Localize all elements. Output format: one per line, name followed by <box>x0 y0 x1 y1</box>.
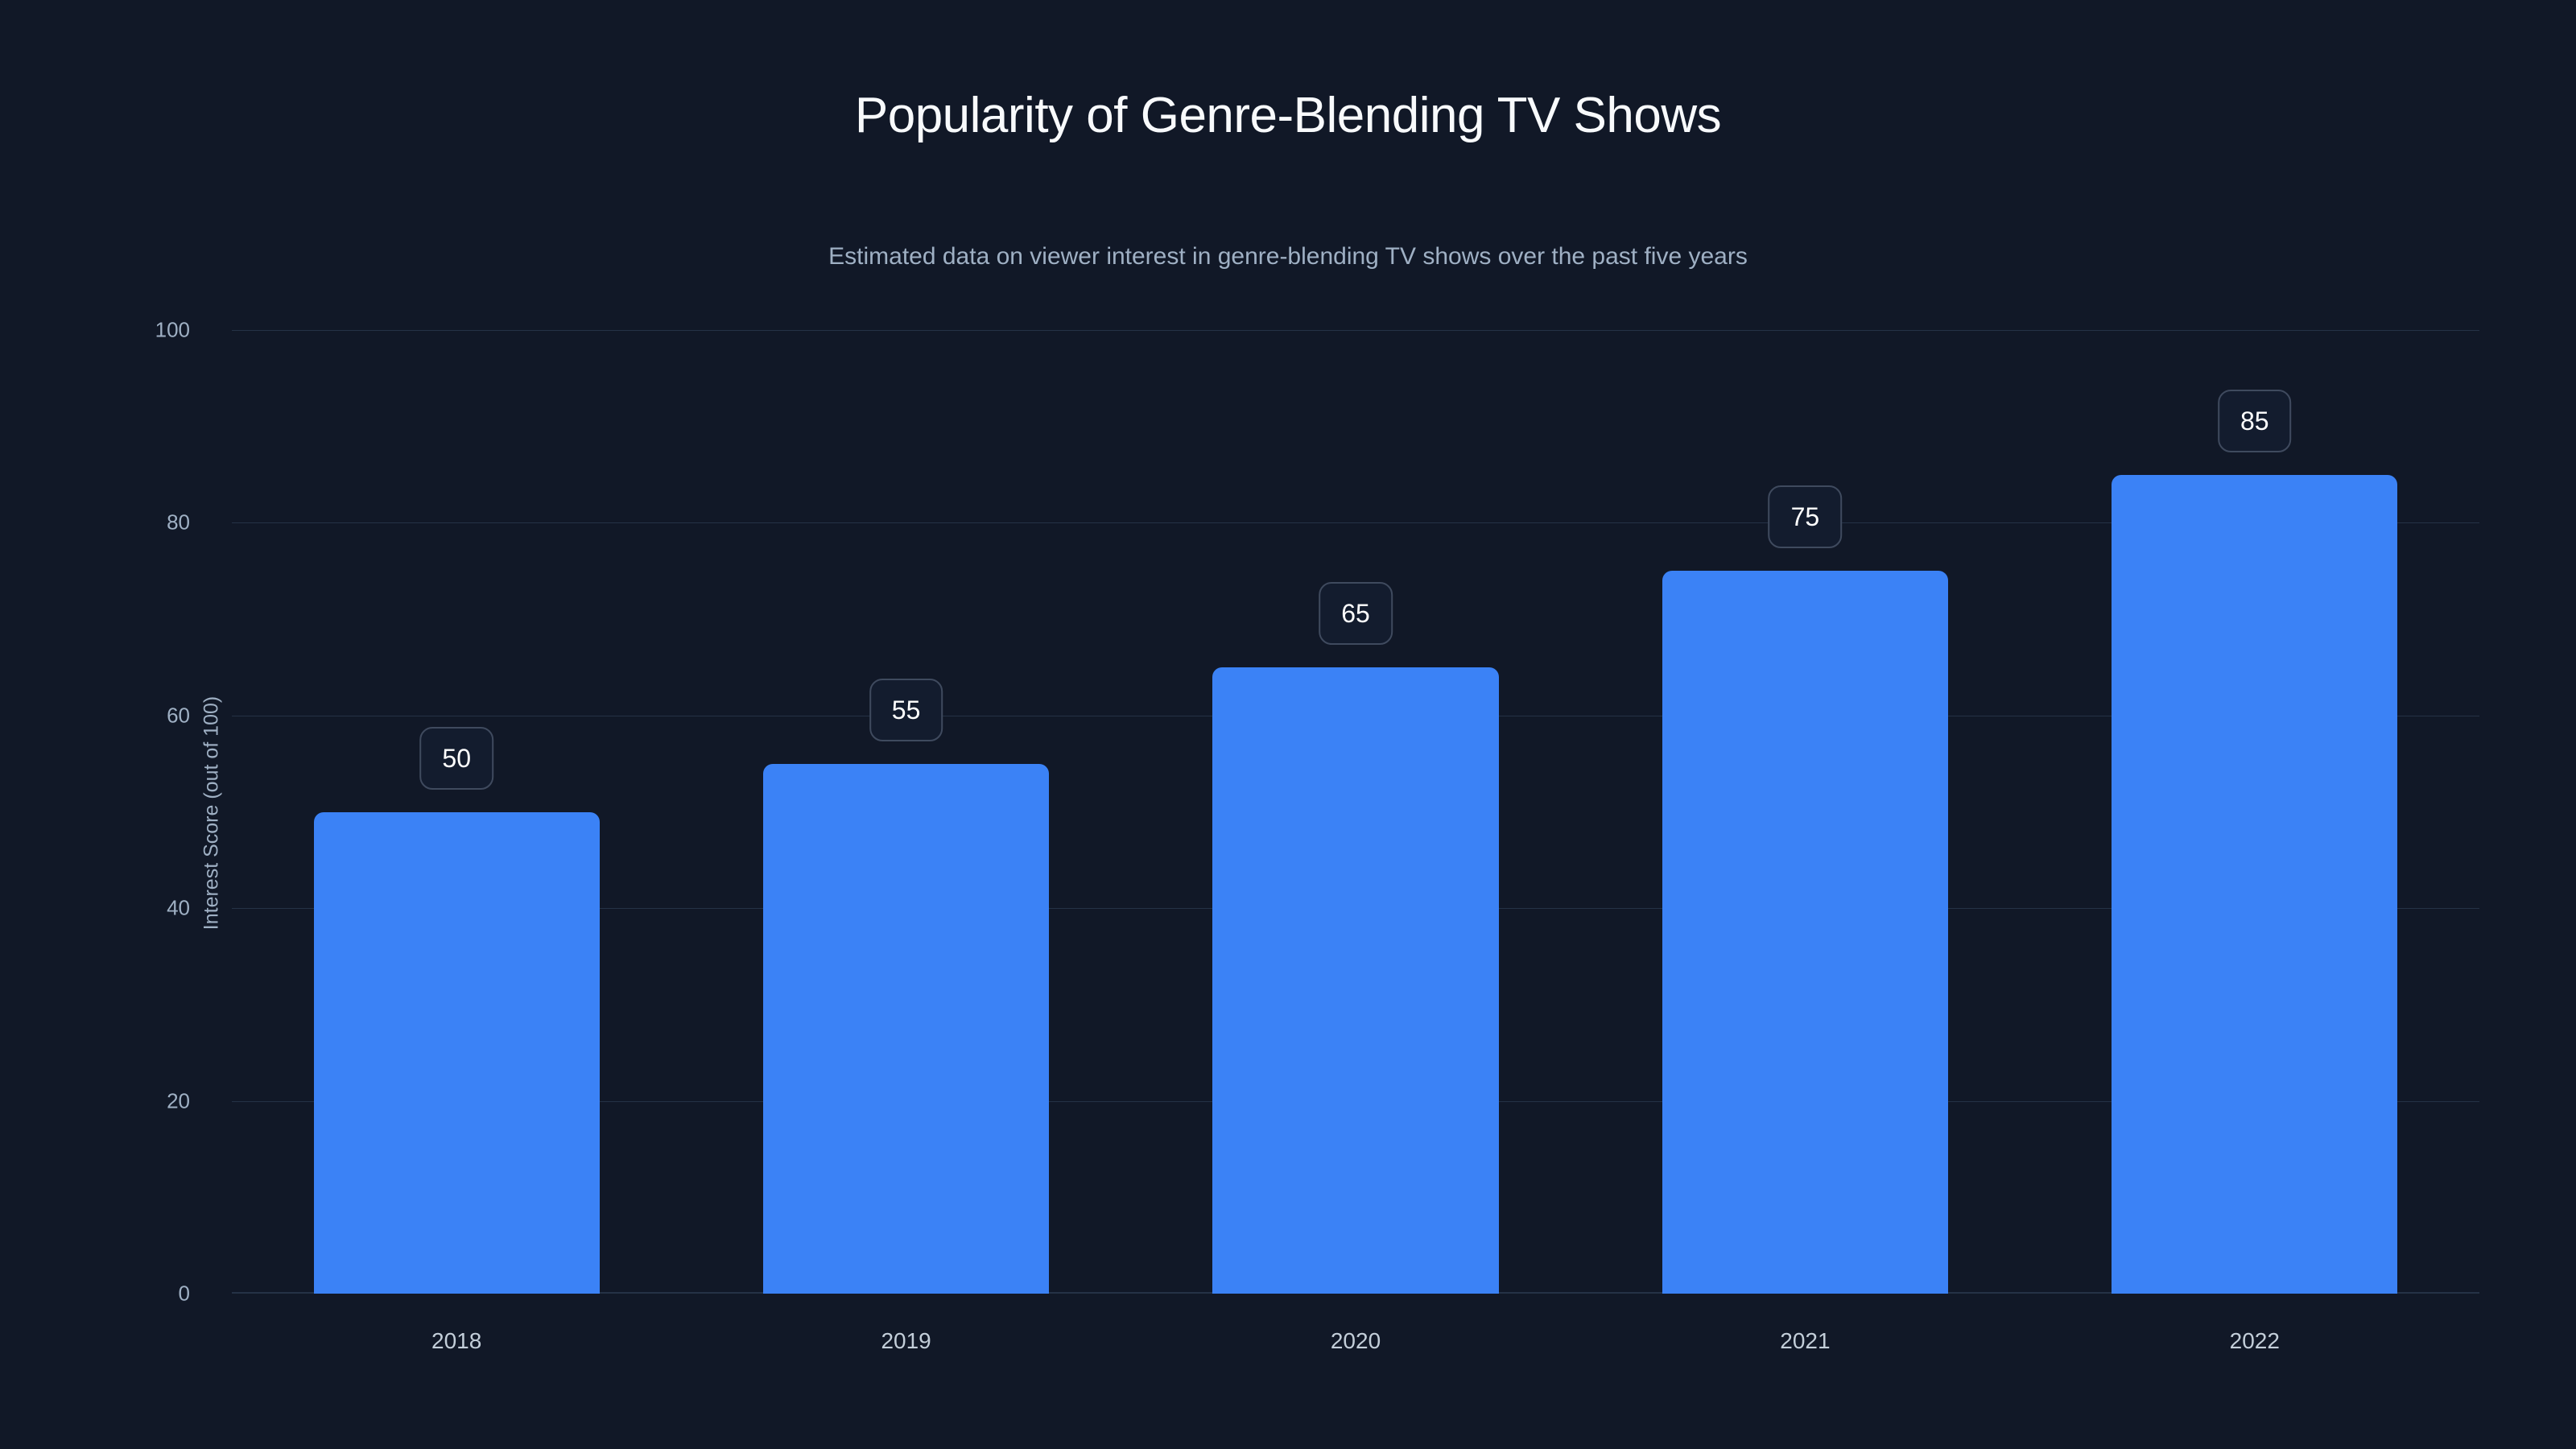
x-tick-label: 2021 <box>1780 1328 1830 1354</box>
chart-subtitle: Estimated data on viewer interest in gen… <box>0 243 2576 270</box>
x-tick-label: 2022 <box>2230 1328 2280 1354</box>
y-axis-tick-labels: 020406080100 <box>0 330 208 1294</box>
bar-value-label: 65 <box>1319 582 1393 645</box>
x-tick-label: 2020 <box>1331 1328 1381 1354</box>
plot-area: 5055657585 <box>232 330 2479 1294</box>
bar[interactable] <box>314 812 600 1294</box>
bar[interactable] <box>1662 571 1948 1294</box>
x-tick-label: 2019 <box>881 1328 931 1354</box>
chart-title: Popularity of Genre-Blending TV Shows <box>0 87 2576 144</box>
x-tick-label: 2018 <box>431 1328 481 1354</box>
y-tick-label: 40 <box>167 896 190 921</box>
y-tick-label: 0 <box>179 1282 190 1307</box>
y-tick-label: 80 <box>167 510 190 535</box>
bar[interactable] <box>2112 475 2397 1294</box>
y-tick-label: 100 <box>155 318 190 343</box>
y-tick-label: 60 <box>167 703 190 728</box>
bar-value-label: 50 <box>419 727 493 790</box>
bar-value-label: 85 <box>2218 390 2292 452</box>
bar-value-label: 75 <box>1769 485 1843 548</box>
bar[interactable] <box>763 764 1049 1294</box>
gridline <box>232 330 2479 331</box>
y-tick-label: 20 <box>167 1088 190 1113</box>
bar-chart-canvas: Popularity of Genre-Blending TV Shows Es… <box>0 0 2576 1449</box>
bar[interactable] <box>1212 667 1498 1294</box>
bar-value-label: 55 <box>869 679 943 741</box>
